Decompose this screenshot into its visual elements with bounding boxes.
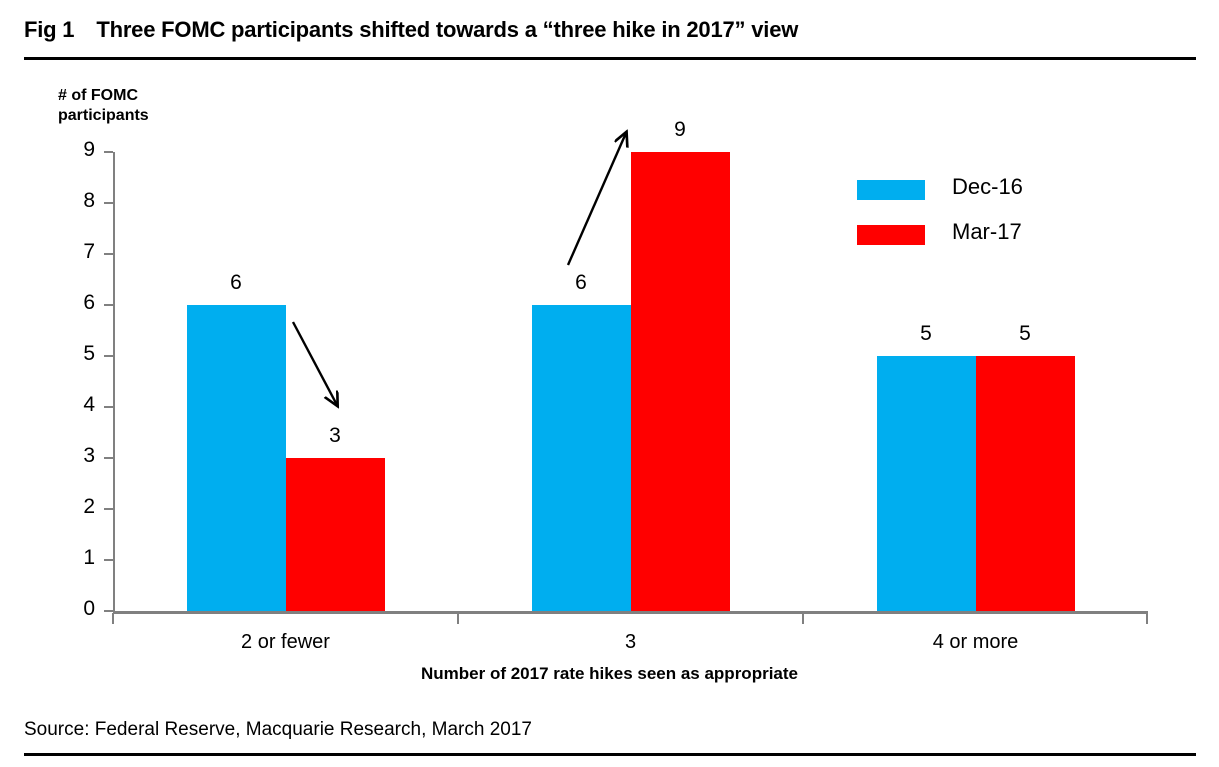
y-tick-label: 9 xyxy=(83,139,95,160)
y-tick-mark xyxy=(104,304,113,306)
x-tick-mark xyxy=(112,613,114,624)
legend-swatch-icon xyxy=(857,180,925,200)
y-tick-label: 7 xyxy=(83,241,95,262)
bar-dec-16-3[interactable] xyxy=(532,305,631,611)
y-tick-mark xyxy=(104,406,113,408)
y-tick-label: 2 xyxy=(83,496,95,517)
figure-title-text: Three FOMC participants shifted towards … xyxy=(96,17,798,42)
x-tick-mark xyxy=(1146,613,1148,624)
bar-value-label: 5 xyxy=(877,323,976,344)
chart-area: # of FOMC participants 0123456789 636955… xyxy=(0,60,1219,705)
bar-value-label: 3 xyxy=(286,425,385,446)
footer-divider xyxy=(24,753,1196,756)
y-axis-title: # of FOMC participants xyxy=(58,86,149,126)
y-tick-label: 6 xyxy=(83,292,95,313)
x-tick-mark xyxy=(802,613,804,624)
bar-dec-16-4-or-more[interactable] xyxy=(877,356,976,611)
legend-swatch-icon xyxy=(857,225,925,245)
y-tick-label: 1 xyxy=(83,547,95,568)
y-axis-line xyxy=(113,152,115,614)
y-tick-mark xyxy=(104,610,113,612)
x-axis-title: Number of 2017 rate hikes seen as approp… xyxy=(0,664,1219,684)
source-note: Source: Federal Reserve, Macquarie Resea… xyxy=(24,719,532,741)
figure-footer: Source: Federal Reserve, Macquarie Resea… xyxy=(0,705,1219,767)
x-category-label: 2 or fewer xyxy=(113,632,458,652)
x-category-label: 3 xyxy=(458,632,803,652)
up-arrow xyxy=(568,133,626,265)
y-tick-label: 5 xyxy=(83,343,95,364)
y-tick-mark xyxy=(104,355,113,357)
bar-dec-16-2-or-fewer[interactable] xyxy=(187,305,286,611)
x-category-label: 4 or more xyxy=(803,632,1148,652)
bar-value-label: 6 xyxy=(187,272,286,293)
y-tick-mark xyxy=(104,457,113,459)
figure-title: Fig 1Three FOMC participants shifted tow… xyxy=(24,17,798,43)
bar-mar-17-4-or-more[interactable] xyxy=(976,356,1075,611)
down-arrow xyxy=(293,322,337,405)
y-tick-label: 0 xyxy=(83,598,95,619)
y-tick-mark xyxy=(104,151,113,153)
y-tick-label: 3 xyxy=(83,445,95,466)
bar-value-label: 9 xyxy=(631,119,730,140)
bar-mar-17-2-or-fewer[interactable] xyxy=(286,458,385,611)
x-axis-line xyxy=(113,611,1148,614)
y-tick-label: 8 xyxy=(83,190,95,211)
y-tick-mark xyxy=(104,559,113,561)
bar-mar-17-3[interactable] xyxy=(631,152,730,611)
y-tick-mark xyxy=(104,253,113,255)
legend-label: Dec-16 xyxy=(952,174,1023,200)
bar-value-label: 6 xyxy=(532,272,631,293)
bar-value-label: 5 xyxy=(976,323,1075,344)
figure-header: Fig 1Three FOMC participants shifted tow… xyxy=(0,0,1219,60)
figure-number: Fig 1 xyxy=(24,17,74,42)
x-tick-mark xyxy=(457,613,459,624)
y-tick-mark xyxy=(104,508,113,510)
y-tick-label: 4 xyxy=(83,394,95,415)
y-tick-mark xyxy=(104,202,113,204)
legend-label: Mar-17 xyxy=(952,219,1022,245)
